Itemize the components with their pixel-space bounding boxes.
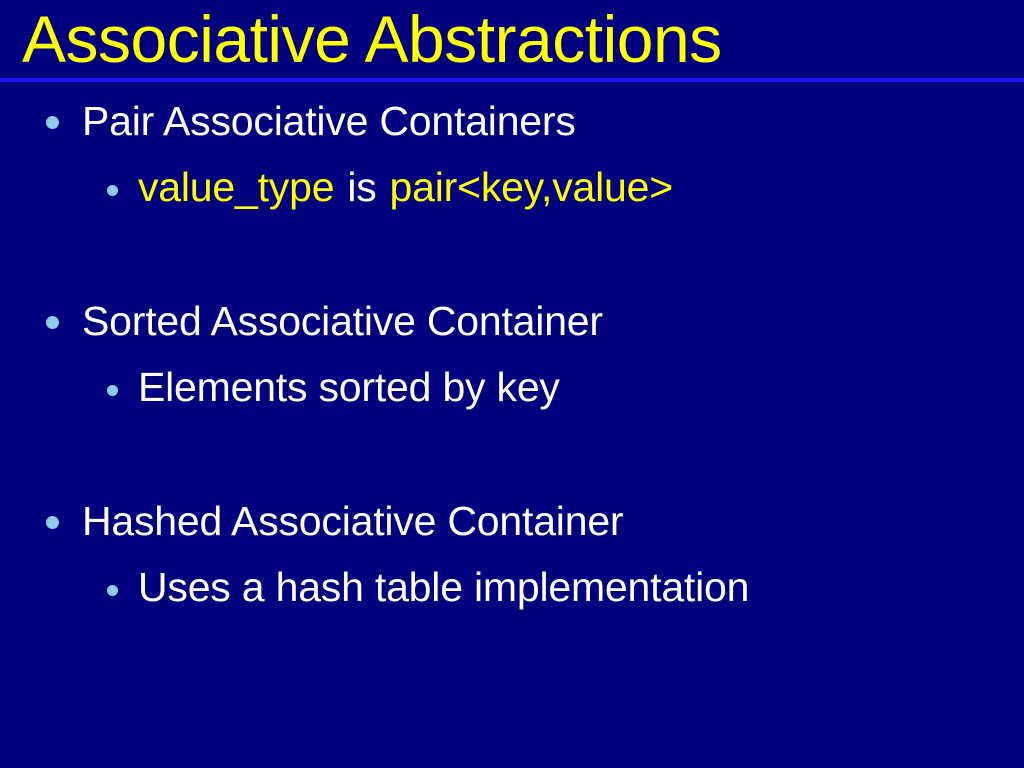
slide-body: Pair Associative Containers value_typeis… — [0, 82, 1024, 768]
bullet-group-2: Sorted Associative Container Elements so… — [0, 296, 1024, 414]
bullet-group-3: Hashed Associative Container Uses a hash… — [0, 496, 1024, 614]
sub-bullet-marker-icon — [107, 585, 118, 596]
code-token-value-type: value_type — [138, 164, 334, 210]
bullet-item-pair-associative-containers: Pair Associative Containers — [0, 96, 1024, 148]
sub-bullet-item-value-type: value_typeispair<key,value> — [0, 162, 1024, 214]
bullet-item-hashed-associative-container: Hashed Associative Container — [0, 496, 1024, 548]
bullet-marker-icon — [46, 316, 59, 329]
code-token-pair-key-value: pair<key,value> — [390, 164, 673, 210]
page-title: Associative Abstractions — [22, 1, 722, 77]
slide-title-area: Associative Abstractions — [0, 0, 1024, 78]
bullet-group-1: Pair Associative Containers value_typeis… — [0, 96, 1024, 214]
sub-bullet-label: Uses a hash table implementation — [138, 564, 749, 610]
bullet-item-sorted-associative-container: Sorted Associative Container — [0, 296, 1024, 348]
sub-bullet-item-elements-sorted-by-key: Elements sorted by key — [0, 362, 1024, 414]
bullet-label: Hashed Associative Container — [82, 498, 623, 544]
sub-bullet-label: Elements sorted by key — [138, 364, 560, 410]
sub-bullet-marker-icon — [107, 185, 118, 196]
bullet-marker-icon — [46, 516, 59, 529]
bullet-label: Sorted Associative Container — [82, 298, 603, 344]
sub-bullet-item-uses-a-hash-table-implementation: Uses a hash table implementation — [0, 562, 1024, 614]
bullet-label: Pair Associative Containers — [82, 98, 576, 144]
connector-word-is: is — [347, 164, 376, 210]
presentation-slide: Associative Abstractions Pair Associativ… — [0, 0, 1024, 768]
bullet-marker-icon — [46, 116, 59, 129]
sub-bullet-marker-icon — [107, 385, 118, 396]
